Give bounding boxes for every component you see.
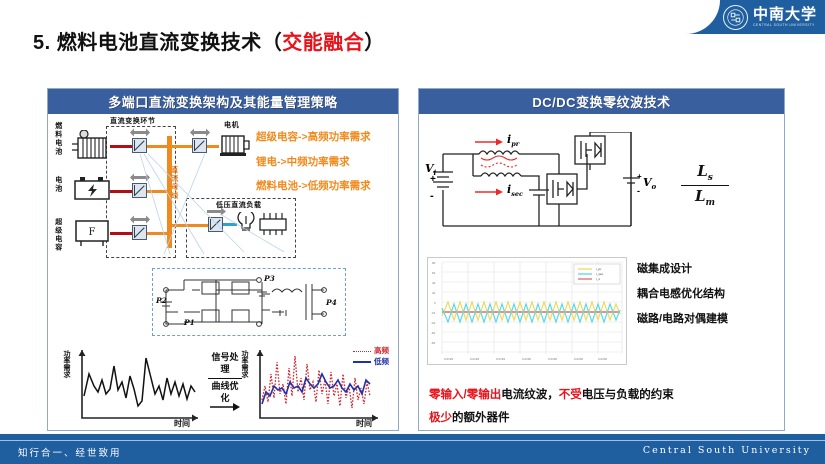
legend-swatch-high-freq [353,351,371,352]
page-title-suffix: ） [364,32,385,54]
port-label-p3: P3 [264,274,275,283]
svg-text:i_sec: i_sec [596,272,604,276]
note-1-red-1: 零输入/零输出 [429,389,501,401]
left-panel-body: 燃料电池 电池 超级电容 直流变换环节 [48,114,398,430]
bullet-lithium: 锂电->中频功率需求 [256,157,371,168]
legend-label-high-freq: 高频 [374,346,389,357]
svg-text:-20: -20 [431,311,436,315]
converter-fuel-cell [132,138,147,153]
formula-numerator: Ls [681,162,729,184]
wire-supercap [110,232,132,235]
bullet-supercapacitor: 超级电容->高频功率需求 [256,132,371,143]
frequency-split-chart: 功率需求 时间 高频 低频 [238,344,393,432]
label-vout-plus: + [637,172,642,181]
note-line-2: 极少的额外器件 [429,413,779,425]
svg-text:0.0200: 0.0200 [522,357,531,361]
chart-right-legend: 高频 低频 [353,346,389,367]
right-panel-body: Vi + - ipr isec + - Vo Ls Lm [419,114,784,430]
svg-text:i_o: i_o [596,277,601,281]
university-seal-icon [723,5,748,30]
magnetics-feature-list: 磁集成设计 耦合电感优化结构 磁路/电路对偶建模 [637,264,728,339]
svg-text:20: 20 [432,291,436,295]
legend-item-low-freq: 低频 [353,357,389,368]
stage-label: 直流变换环节 [110,116,156,126]
right-panel-title: DC/DC变换零纹波技术 [419,89,784,114]
chart-right-ylabel: 功率需求 [240,350,250,378]
wire-battery [110,190,132,193]
university-logo: 中南大学 CENTRAL SOUTH UNIVERSITY [723,3,817,31]
label-vin-minus: - [430,190,434,202]
footer-motto: 知行合一、经世致用 [18,445,122,459]
load-label-motor: 电机 [224,120,239,130]
converter-motor [192,138,207,153]
source-label-fuel-cell: 燃料电池 [54,122,63,156]
waveform-legend: i_pr i_sec i_o [574,264,620,284]
svg-text:-40: -40 [431,321,436,325]
port-label-p2: P2 [156,296,167,305]
formula-denominator: Lm [681,187,729,209]
chart-left-ylabel: 功率需求 [62,350,72,378]
formula-bar [681,185,729,186]
label-vin-plus: + [430,174,436,185]
battery-icon [72,176,112,204]
feature-duality-modeling: 磁路/电路对偶建模 [637,314,728,325]
note-1-red-2: 不受 [559,389,582,401]
fraction-bar [208,378,242,379]
label-current-secondary: isec [507,183,523,198]
svg-text:0.0199: 0.0199 [496,357,505,361]
bullet-fuel-cell: 燃料电池->低频功率需求 [256,181,371,192]
port-label-p1: P1 [184,318,195,327]
signal-transform-label: 信号处理 曲线优化 [208,352,242,406]
note-1-black-2: 电压与负载的约束 [582,389,674,401]
note-line-1: 零输入/零输出电流纹波，不受电压与负载的约束 [429,390,779,402]
legend-label-low-freq: 低频 [374,357,389,368]
zero-ripple-notes: 零输入/零输出电流纹波，不受电压与负载的约束 极少的额外器件 [429,390,779,435]
note-1-black-1: 电流纹波， [501,389,559,401]
right-panel: DC/DC变换零纹波技术 [418,88,785,431]
ripple-waveform-plot: 806040 200-20 -40-60-80 0.01990.01990.01… [427,257,627,365]
page-title-accent: 交能融合 [282,32,364,54]
dcdc-converter-circuit: Vi + - ipr isec + - Vo [425,132,655,237]
feature-magnetic-integration: 磁集成设计 [637,264,728,275]
source-label-supercapacitor: 超级电容 [54,218,63,252]
svg-text:0.0200: 0.0200 [574,357,583,361]
footer: 知行合一、经世致用 Central South University [0,434,825,464]
inductance-ratio-formula: Ls Lm [681,162,729,209]
legend-swatch-low-freq [353,361,371,363]
footer-divider [0,440,825,441]
arrow-bidirectional-icon [130,128,150,137]
svg-text:0.0200: 0.0200 [548,357,557,361]
chart-right-xlabel: 时间 [356,418,372,429]
page-title-prefix: 5. 燃料电池直流变换技术（ [33,32,282,54]
svg-text:i_pr: i_pr [596,267,602,271]
logo-name-en: CENTRAL SOUTH UNIVERSITY [753,24,817,27]
legend-item-high-freq: 高频 [353,346,389,357]
svg-text:-80: -80 [431,341,436,345]
svg-text:0.0199: 0.0199 [470,357,479,361]
arrow-bidirectional-icon [190,128,210,137]
left-panel: 多端口直流变换架构及其能量管理策略 燃料电池 电池 超级电容 直流变换环节 [47,88,399,431]
svg-text:F: F [89,227,96,238]
left-panel-title: 多端口直流变换架构及其能量管理策略 [48,89,398,114]
svg-text:80: 80 [432,261,436,265]
svg-text:-60: -60 [431,331,436,335]
label-current-primary: ipr [507,133,519,148]
power-demand-chart: 功率需求 时间 [56,344,206,432]
note-2-red-1: 极少 [429,412,452,424]
svg-text:40: 40 [432,281,436,285]
source-label-battery: 电池 [54,176,63,193]
port-label-p4: P4 [326,298,337,307]
feature-coupled-inductor: 耦合电感优化结构 [637,289,728,300]
svg-text:0.0200: 0.0200 [598,357,607,361]
fuel-cell-icon [70,130,112,162]
power-demand-bullets: 超级电容->高频功率需求 锂电->中频功率需求 燃料电池->低频功率需求 [256,132,371,206]
svg-text:60: 60 [432,271,436,275]
arrow-right-icon [208,402,242,412]
transform-numerator: 信号处理 [208,352,242,376]
footer-university-name: Central South University [643,445,811,456]
logo-name-cn: 中南大学 [753,7,817,22]
wire-fuel-cell [110,145,132,148]
page-title: 5. 燃料电池直流变换技术（交能融合） [33,26,385,55]
label-vout-minus: - [637,186,640,196]
supercapacitor-icon: F [72,218,112,248]
svg-text:0.0199: 0.0199 [444,357,453,361]
multiport-circuit: P2 P1 P3 P4 [156,272,342,334]
note-2-black-1: 的额外器件 [452,412,510,424]
label-vout: Vo [643,176,656,191]
chart-left-xlabel: 时间 [174,418,190,429]
